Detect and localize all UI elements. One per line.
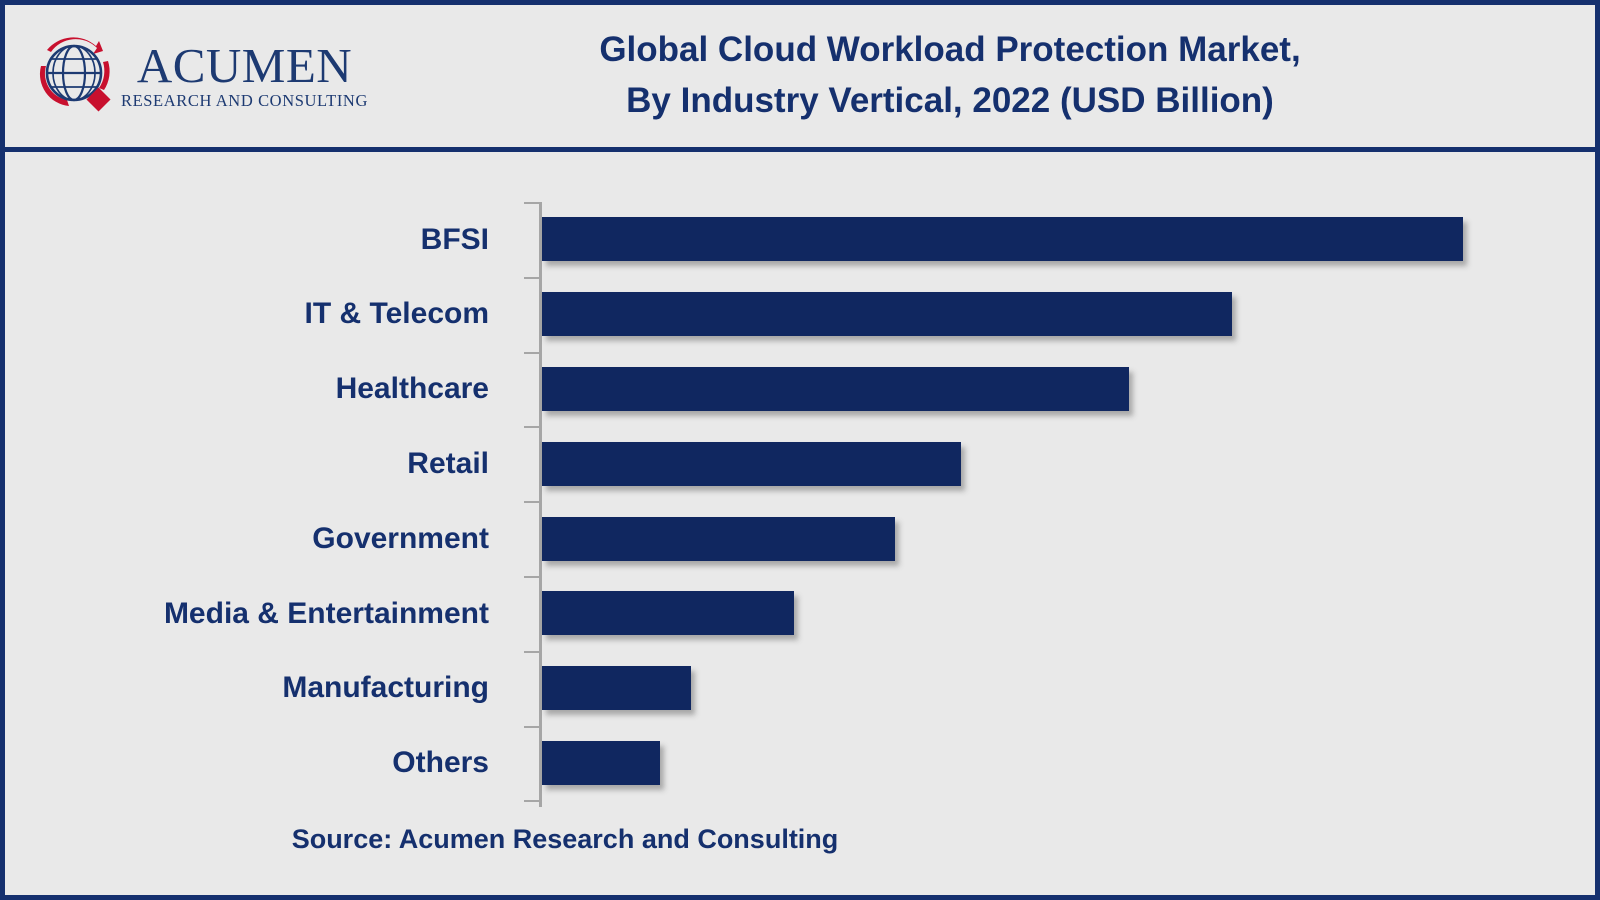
bar-row: Healthcare [5,352,1595,427]
page-title-line-2: By Industry Vertical, 2022 (USD Billion) [365,76,1535,127]
axis-tick [524,800,539,802]
bar-category-label: IT & Telecom [0,297,515,331]
bar-category-label: Retail [0,447,515,481]
bar-category-label: BFSI [0,223,515,257]
bar-category-label: Healthcare [0,372,515,406]
brand-wordmark: ACUMEN RESEARCH AND CONSULTING [121,41,368,110]
bar-category-label: Others [0,746,515,780]
page-title: Global Cloud Workload Protection Market,… [365,25,1535,127]
chart-plot-area: BFSIIT & TelecomHealthcareRetailGovernme… [5,152,1595,894]
bar [542,442,961,486]
bar-row: BFSI [5,202,1595,277]
brand-logo: ACUMEN RESEARCH AND CONSULTING [33,23,343,128]
bar-row: IT & Telecom [5,277,1595,352]
globe-logo-icon [33,32,119,120]
brand-name: ACUMEN [137,41,352,90]
bar-row: Manufacturing [5,651,1595,726]
bar [542,666,691,710]
page-title-line-1: Global Cloud Workload Protection Market, [365,25,1535,76]
figure-header: ACUMEN RESEARCH AND CONSULTING Global Cl… [5,5,1595,152]
bar [542,591,794,635]
bar-category-label: Government [0,522,515,556]
bar [542,741,660,785]
bar [542,367,1129,411]
bar-row: Media & Entertainment [5,576,1595,651]
bar [542,517,895,561]
brand-tagline: RESEARCH AND CONSULTING [121,93,368,110]
bar [542,292,1232,336]
bar-row: Government [5,501,1595,576]
bar-category-label: Media & Entertainment [0,597,515,631]
bar-row: Retail [5,426,1595,501]
source-note: Source: Acumen Research and Consulting [5,824,1125,855]
chart-figure: ACUMEN RESEARCH AND CONSULTING Global Cl… [0,0,1600,900]
bar-row: Others [5,726,1595,801]
bar [542,217,1463,261]
bar-category-label: Manufacturing [0,671,515,705]
